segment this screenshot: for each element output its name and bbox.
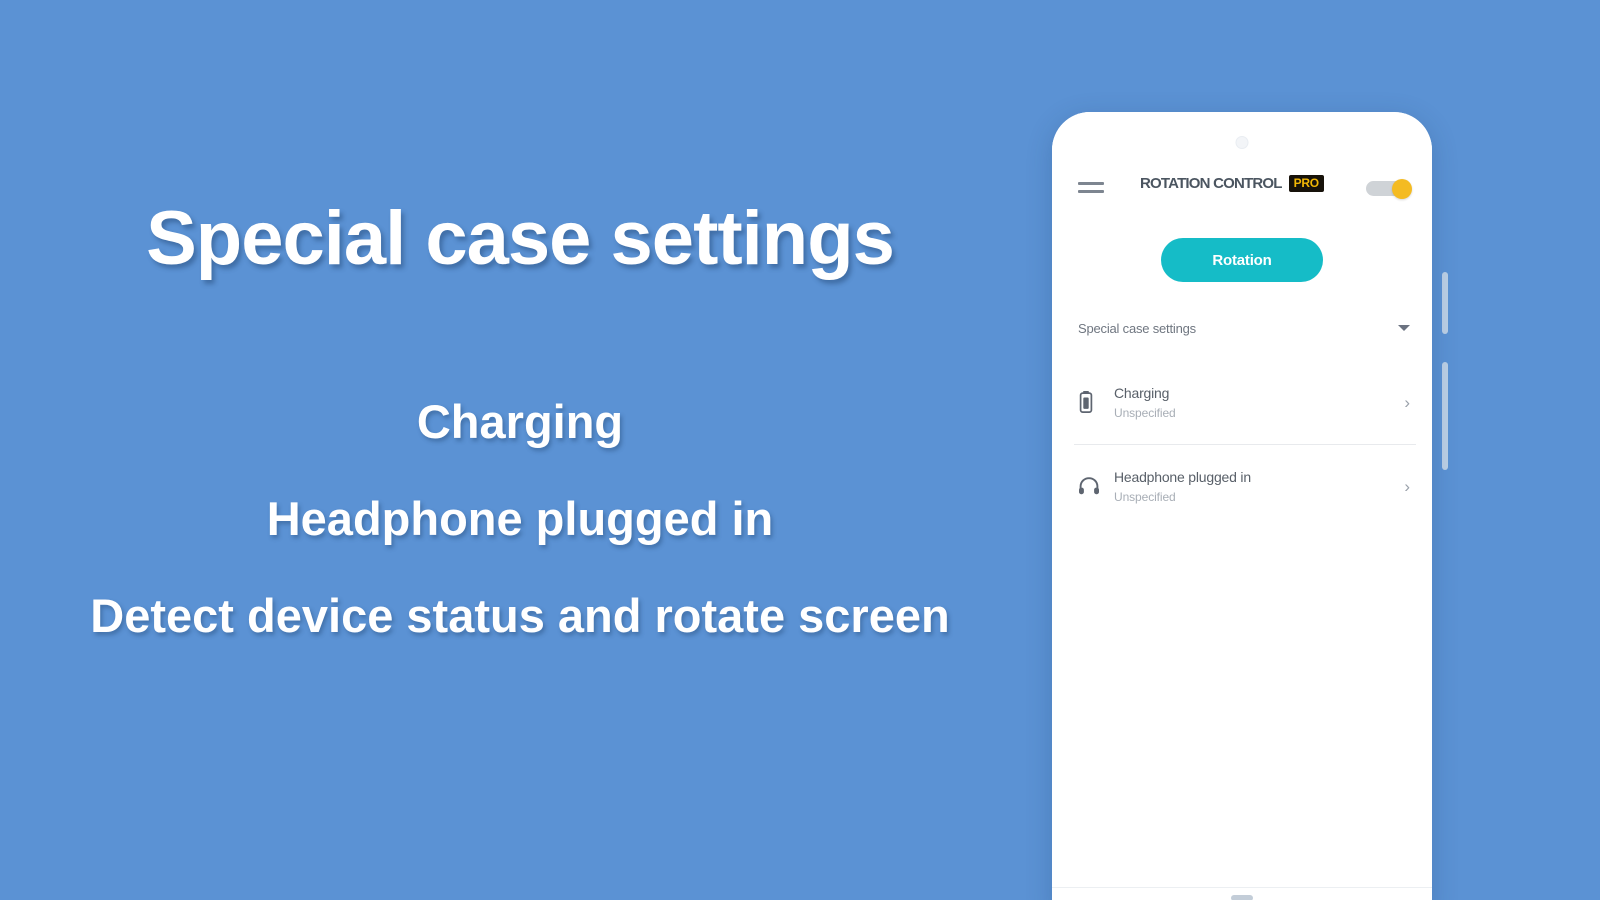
page-title: Special case settings: [0, 196, 1040, 282]
promo-feature-list: Charging Headphone plugged in Detect dev…: [0, 390, 1040, 648]
toggle-knob: [1392, 179, 1412, 199]
hamburger-icon[interactable]: [1078, 176, 1104, 198]
promo-feature-line-1: Charging: [0, 390, 1040, 454]
app-title-group: ROTATION CONTROL PRO: [1140, 175, 1324, 192]
rotation-button[interactable]: Rotation: [1161, 238, 1323, 282]
special-case-settings-header[interactable]: Special case settings: [1052, 310, 1432, 346]
phone-power-button: [1442, 362, 1448, 470]
app-title: ROTATION CONTROL: [1140, 175, 1282, 192]
phone-navigation-bar: [1052, 887, 1432, 900]
phone-frame: ROTATION CONTROL PRO Rotation Special ca…: [1052, 112, 1432, 900]
master-rotation-toggle[interactable]: [1366, 179, 1412, 197]
setting-row-title: Charging: [1114, 385, 1394, 401]
promo-feature-line-2: Headphone plugged in: [0, 487, 1040, 551]
phone-mockup: ROTATION CONTROL PRO Rotation Special ca…: [1052, 112, 1444, 900]
phone-screen: ROTATION CONTROL PRO Rotation Special ca…: [1052, 112, 1432, 900]
camera-icon: [1236, 136, 1249, 149]
section-header-label: Special case settings: [1078, 321, 1398, 336]
setting-row-text: Charging Unspecified: [1112, 385, 1394, 420]
promo-feature-line-3: Detect device status and rotate screen: [0, 584, 1040, 648]
promo-banner: Special case settings Charging Headphone…: [0, 0, 1600, 900]
promo-copy: Special case settings Charging Headphone…: [0, 0, 1040, 900]
chevron-down-icon[interactable]: [1398, 325, 1410, 331]
chevron-right-icon[interactable]: ›: [1394, 478, 1410, 495]
chevron-right-icon[interactable]: ›: [1394, 394, 1410, 411]
pro-badge: PRO: [1289, 175, 1324, 192]
battery-icon: [1078, 390, 1112, 414]
setting-row-headphone[interactable]: Headphone plugged in Unspecified ›: [1052, 444, 1432, 528]
app-bar: ROTATION CONTROL PRO: [1052, 162, 1432, 216]
setting-row-title: Headphone plugged in: [1114, 469, 1394, 485]
setting-row-charging[interactable]: Charging Unspecified ›: [1052, 360, 1432, 444]
setting-row-subtitle: Unspecified: [1114, 490, 1394, 504]
setting-row-text: Headphone plugged in Unspecified: [1112, 469, 1394, 504]
home-indicator[interactable]: [1231, 895, 1253, 900]
phone-volume-button: [1442, 272, 1448, 334]
settings-list: Charging Unspecified ›: [1052, 360, 1432, 528]
headphone-icon: [1078, 476, 1112, 496]
setting-row-subtitle: Unspecified: [1114, 406, 1394, 420]
